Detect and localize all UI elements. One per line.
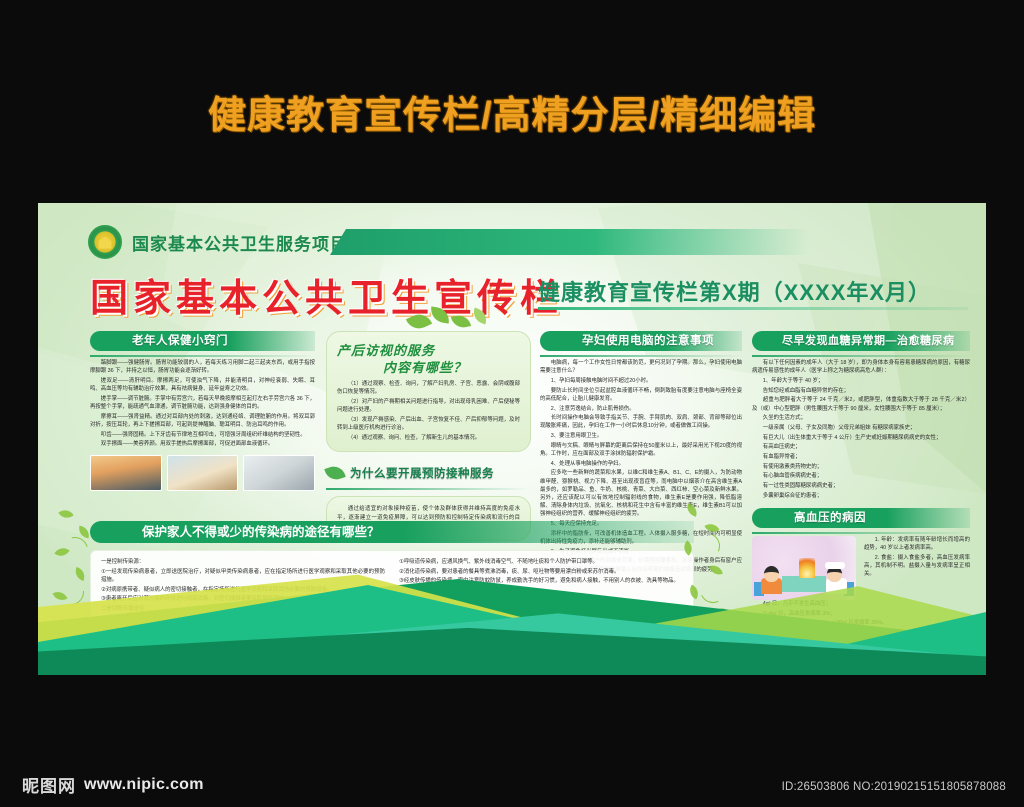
paragraph: 有巨大儿（出生体重大于等于 4 公斤）生产史或妊娠期糖尿病病史的女性； (752, 434, 970, 442)
section-heading-vaccination: 为什么要开展预防接种服务 (326, 464, 531, 486)
body-copy-elderly: 踮脚跟——强健肠胃。肠胃功能较弱的人，若每天练习用脚二起三起夹东西，或用手指按摩… (90, 359, 315, 449)
card-postpartum: 产后访视的服务 内容有哪些？ （1）通过观察、检查、询问，了解产妇乳房、子宫、恶… (326, 331, 531, 452)
header-ribbon (330, 229, 810, 255)
paragraph: 要防止长时间坐位引起盆腔血液循环不畅，倒刺致胎有度要注意电脑与座椅全姿的高低配合… (540, 387, 742, 403)
list-item: （1）通过观察、检查、询问，了解产妇乳房、子宫、恶露、会阴或腹部伤口恢复等情况。 (337, 380, 520, 396)
section-heading-label: 孕妇使用电脑的注意事项 (540, 331, 742, 351)
paragraph: 眼睛与文稿、眼睛与屏幕的距离后保持在50厘米以上，最好采用光下视20度的视角。工… (540, 442, 742, 458)
green-house-seal-icon (88, 225, 122, 259)
screenshot-root: 健康教育宣传栏/高精分层/精细编辑 国家基本公共卫生服务项目 国家基本公共卫生宣… (0, 0, 1024, 807)
paragraph: 双手擦面——美容养颜。用双手搓热后摩擦面部，可促进面部血液循环。 (90, 440, 315, 448)
card-items-postpartum: （1）通过观察、检查、询问，了解产妇乳房、子宫、恶露、会阴或腹部伤口恢复等情况。… (337, 380, 520, 442)
page-title: 健康教育宣传栏/高精分层/精细编辑 (0, 84, 1024, 139)
paragraph: 4、处理从事电脑操作的孕妇。 (540, 460, 742, 468)
card-title-line2: 内容有哪些？ (337, 359, 520, 376)
section-heading-label: 高血压的病因 (752, 508, 970, 528)
poster-logo-row: 国家基本公共卫生服务项目 (88, 225, 348, 259)
paragraph: 电脑病，每一个工作女性日常都该防范，更何况到了孕期。那么，孕妇使用电脑需要注意什… (540, 359, 742, 375)
paragraph: 一级亲属（父母、子女及同胞）父母兄弟姐妹 有糖尿病家族史； (752, 424, 970, 432)
paragraph: 应多吃一些新鲜的蔬菜和水果，以维C和维生素A、B1、C、E的摄入，为防动物维甲醛… (540, 469, 742, 518)
watermark-url: www.nipic.com (84, 776, 204, 794)
paragraph: 有使用激素类药物史的； (752, 463, 970, 471)
photo-elderly-exercise (90, 455, 162, 491)
paragraph: 有高血压病史； (752, 443, 970, 451)
poster-bottom-graphic (38, 515, 986, 675)
issue-rule (538, 307, 968, 310)
section-heading-elderly: 老年人保健小窍门 (90, 331, 315, 353)
list-item: （4）通过观察、询问、检查，了解新生儿的基本情况。 (337, 434, 520, 442)
paragraph: 有心脑血管疾病病史者； (752, 472, 970, 480)
section-heading-label: 老年人保健小窍门 (90, 331, 315, 351)
wide-section-heading-label: 保护家人不得或少的传染病的途径有哪些？ (90, 525, 380, 539)
card-title-line1: 产后访视的服务 (337, 343, 435, 358)
card-title-postpartum: 产后访视的服务 内容有哪些？ (337, 342, 520, 376)
paragraph: 有血脂异常者； (752, 453, 970, 461)
photo-elderly-tennis (243, 455, 315, 491)
paragraph: 1、年龄大于等于 40 岁； (752, 377, 970, 385)
paragraph: 多囊卵巢综合征的患者； (752, 492, 970, 500)
column-elderly: 老年人保健小窍门 踮脚跟——强健肠胃。肠胃功能较弱的人，若每天练习用脚二起三起夹… (90, 331, 315, 491)
section-heading-hypertension: 高血压的病因 (752, 508, 970, 530)
paragraph: 1、孕妇每周接触电脑时间不超过20小时。 (540, 377, 742, 385)
photo-elderly-couple (167, 455, 239, 491)
paragraph: 2、注意劳逸结合，防止肌骨损伤。 (540, 405, 742, 413)
column-postpartum: 产后访视的服务 内容有哪些？ （1）通过观察、检查、询问，了解产妇乳房、子宫、恶… (326, 331, 531, 541)
org-name: 国家基本公共卫生服务项目 (132, 230, 348, 255)
list-item: （2）对产妇的产褥期相关问题进行指导，对出现母乳困难、产后便秘等问题进行处理。 (337, 398, 520, 414)
issue-title: 健康教育宣传栏第X期（XXXX年X月） (538, 275, 931, 307)
section-heading-diabetes: 尽早发现血糖异常期—治愈糖尿病 (752, 331, 970, 353)
paragraph: 搓双足——清肝明目。摩擦两足，可使浊气下降，并能清明目，对神经衰弱、失眠、耳鸣、… (90, 377, 315, 393)
watermark: 昵图网 www.nipic.com (22, 772, 204, 797)
paragraph: 长时间操作电脑会导致手指关节、手腕、手臂肌肉、双肩、颈部、背部等部位出现酸胀疼痛… (540, 414, 742, 430)
section-heading-label: 为什么要开展预防接种服务 (326, 464, 531, 484)
paragraph: 摩擦耳——强肾益精。通过对耳部内处的刺激，达到通经络、调理脏腑的作用。将双耳郭对… (90, 413, 315, 429)
section-heading-label: 尽早发现血糖异常期—治愈糖尿病 (752, 331, 970, 351)
photo-strip (90, 455, 315, 491)
paragraph: 告知您经或血脂有血糖异常的存在； (752, 387, 970, 395)
paragraph: 3、要注意用眼卫生。 (540, 432, 742, 440)
paragraph: 搓手掌——调节脏腑。手掌中有劳宫穴，若每天早晚按摩相互起打左右手劳宫穴各 36 … (90, 395, 315, 411)
poster-artwork: 国家基本公共卫生服务项目 国家基本公共卫生宣传栏 健康教育宣传栏第X期（XXXX… (38, 203, 986, 675)
body-copy-diabetes: 有以下任何因素的成年人（大于 18 岁），即为身体本身有容易患糖尿病的原因，有糖… (752, 359, 970, 500)
paragraph: 有一过性类固醇糖尿病病史者； (752, 482, 970, 490)
paragraph: 叩齿——强肾固精。上下牙齿有节律地互相叩击，可增强牙周组织纤维结构的坚韧性。 (90, 431, 315, 439)
paragraph: 久坐的生活方式； (752, 414, 970, 422)
list-item: （3）发现产褥感染、产后出血、子宫恢复不佳、产后抑郁等问题，及时转到上级医疗机构… (337, 416, 520, 432)
asset-id-line: ID:26503806 NO:20190215151805878088 (782, 781, 1006, 793)
paragraph: 踮脚跟——强健肠胃。肠胃功能较弱的人，若每天练习用脚二起三起夹东西，或用手指按摩… (90, 359, 315, 375)
paragraph: 有以下任何因素的成年人（大于 18 岁），即为身体本身有容易患糖尿病的原因，有糖… (752, 359, 970, 375)
paragraph: 超重与肥胖者大于等于 24 千克／米2，或肥胖型，体重指数大于等于 28 千克／… (752, 396, 970, 412)
leaf-decoration-icon (404, 306, 524, 340)
watermark-brand: 昵图网 (22, 772, 76, 797)
section-heading-pregnant-computer: 孕妇使用电脑的注意事项 (540, 331, 742, 353)
